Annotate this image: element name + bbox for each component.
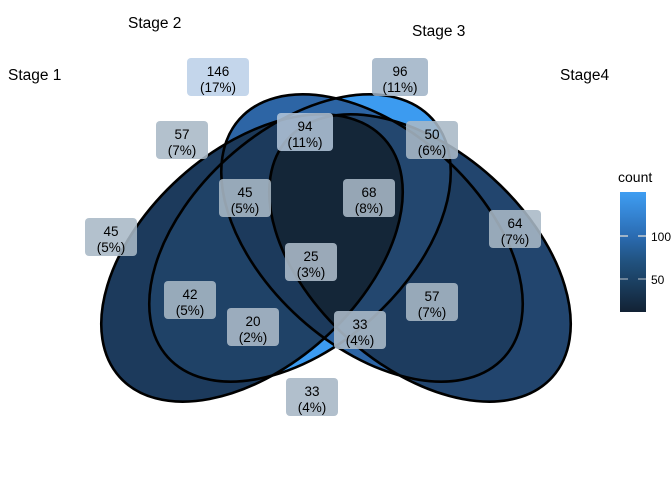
legend-tick-label-50: 50 — [651, 273, 665, 287]
cell-percent: (11%) — [287, 135, 322, 150]
cell-percent: (11%) — [382, 80, 417, 95]
cell-percent: (2%) — [239, 330, 268, 345]
cell-label-s1-s3-s4: 20 (2%) — [227, 308, 279, 346]
legend-tick-label-100: 100 — [651, 230, 671, 244]
cell-count: 57 — [424, 289, 439, 304]
legend-title: count — [618, 169, 652, 185]
cell-percent: (4%) — [298, 400, 327, 415]
cell-percent: (7%) — [501, 232, 530, 247]
set-label-stage4: Stage4 — [560, 67, 610, 84]
cell-label-s3-s4: 50 (6%) — [406, 121, 458, 159]
set-label-stage2: Stage 2 — [128, 15, 181, 32]
cell-label-s2-s3: 94 (11%) — [277, 113, 333, 151]
venn-diagram-figure: Stage 1 Stage 2 Stage 3 Stage4 146 (17%)… — [0, 0, 672, 480]
cell-count: 42 — [182, 287, 197, 302]
cell-percent: (5%) — [231, 201, 260, 216]
cell-label-stage1-only: 45 (5%) — [85, 218, 137, 256]
cell-percent: (4%) — [346, 333, 375, 348]
set-label-stage1: Stage 1 — [8, 67, 61, 84]
cell-label-stage2-only: 146 (17%) — [187, 58, 249, 96]
cell-percent: (5%) — [176, 303, 205, 318]
cell-count: 50 — [424, 127, 439, 142]
cell-label-s2-s3-s4: 68 (8%) — [343, 179, 395, 217]
cell-label-s2-s4: 57 (7%) — [406, 283, 458, 321]
cell-percent: (7%) — [168, 143, 197, 158]
cell-percent: (6%) — [418, 143, 447, 158]
cell-label-stage4-only: 64 (7%) — [489, 210, 541, 248]
cell-count: 64 — [507, 216, 523, 231]
set-label-stage3: Stage 3 — [412, 23, 465, 40]
legend-colorbar — [620, 192, 646, 312]
cell-count: 146 — [207, 64, 230, 79]
cell-label-s1-s4: 33 (4%) — [286, 378, 338, 416]
cell-count: 96 — [392, 64, 407, 79]
cell-percent: (17%) — [200, 80, 236, 95]
cell-label-s1-s2-s3: 45 (5%) — [219, 179, 271, 217]
cell-count: 33 — [352, 317, 367, 332]
cell-percent: (5%) — [97, 240, 126, 255]
cell-percent: (3%) — [297, 265, 326, 280]
cell-label-s1-s2-s4: 33 (4%) — [334, 311, 386, 349]
cell-label-s1-s2: 57 (7%) — [156, 121, 208, 159]
cell-percent: (7%) — [418, 305, 447, 320]
cell-count: 25 — [303, 249, 318, 264]
cell-percent: (8%) — [355, 201, 384, 216]
cell-label-stage3-only: 96 (11%) — [372, 58, 428, 96]
cell-label-s1-s2-s3-s4: 25 (3%) — [285, 243, 337, 281]
cell-label-s1-s3: 42 (5%) — [164, 281, 216, 319]
cell-count: 33 — [304, 384, 319, 399]
cell-count: 45 — [237, 185, 252, 200]
cell-count: 45 — [103, 224, 118, 239]
cell-count: 57 — [174, 127, 189, 142]
cell-count: 94 — [297, 119, 313, 134]
cell-count: 68 — [361, 185, 376, 200]
cell-count: 20 — [245, 314, 260, 329]
